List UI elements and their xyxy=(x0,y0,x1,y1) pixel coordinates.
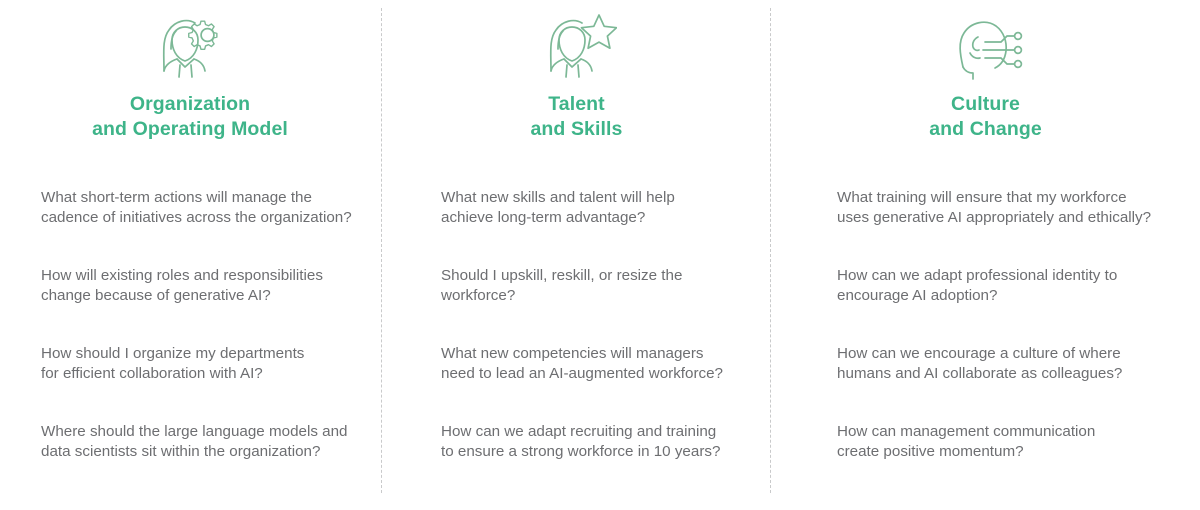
question-line: to ensure a strong workforce in 10 years… xyxy=(441,442,750,462)
column-heading-culture: Culture and Change xyxy=(837,92,1180,142)
question-line: need to lead an AI-augmented workforce? xyxy=(441,364,750,384)
heading-line: Culture xyxy=(837,92,1134,117)
question-item: What training will ensure that my workfo… xyxy=(837,188,1180,228)
question-line: workforce? xyxy=(441,286,750,306)
question-line: uses generative AI appropriately and eth… xyxy=(837,208,1180,228)
question-item: What new competencies will managers need… xyxy=(441,344,750,384)
heading-line: and Operating Model xyxy=(41,117,339,142)
heading-line: Talent xyxy=(441,92,712,117)
question-list-organization: What short-term actions will manage the … xyxy=(41,188,361,462)
question-line: What short-term actions will manage the xyxy=(41,188,361,208)
icon-container-culture xyxy=(837,0,1180,92)
question-line: How will existing roles and responsibili… xyxy=(41,266,361,286)
question-list-talent: What new skills and talent will help ach… xyxy=(441,188,750,462)
question-line: Should I upskill, reskill, or resize the xyxy=(441,266,750,286)
question-line: How should I organize my departments xyxy=(41,344,361,364)
question-line: create positive momentum? xyxy=(837,442,1180,462)
question-item: Where should the large language models a… xyxy=(41,422,361,462)
icon-container-talent xyxy=(441,0,750,92)
question-line: change because of generative AI? xyxy=(41,286,361,306)
column-organization: Organization and Operating Model What sh… xyxy=(0,0,381,510)
question-item: How can we encourage a culture of where … xyxy=(837,344,1180,384)
question-item: How will existing roles and responsibili… xyxy=(41,266,361,306)
heading-line: Organization xyxy=(41,92,339,117)
column-heading-talent: Talent and Skills xyxy=(441,92,750,142)
question-line: for efficient collaboration with AI? xyxy=(41,364,361,384)
question-line: humans and AI collaborate as colleagues? xyxy=(837,364,1180,384)
person-with-gear-icon xyxy=(150,9,230,83)
question-line: What training will ensure that my workfo… xyxy=(837,188,1180,208)
person-with-star-icon xyxy=(537,9,617,83)
heading-line: and Skills xyxy=(441,117,712,142)
question-item: What short-term actions will manage the … xyxy=(41,188,361,228)
question-item: How can we adapt professional identity t… xyxy=(837,266,1180,306)
question-line: How can we adapt professional identity t… xyxy=(837,266,1180,286)
column-culture: Culture and Change What training will en… xyxy=(770,0,1200,510)
question-line: cadence of initiatives across the organi… xyxy=(41,208,361,228)
column-talent: Talent and Skills What new skills and ta… xyxy=(381,0,770,510)
heading-line: and Change xyxy=(837,117,1134,142)
question-line: How can we encourage a culture of where xyxy=(837,344,1180,364)
question-item: What new skills and talent will help ach… xyxy=(441,188,750,228)
question-item: How can we adapt recruiting and training… xyxy=(441,422,750,462)
question-list-culture: What training will ensure that my workfo… xyxy=(837,188,1180,462)
question-line: Where should the large language models a… xyxy=(41,422,361,442)
question-item: Should I upskill, reskill, or resize the… xyxy=(441,266,750,306)
question-line: What new competencies will managers xyxy=(441,344,750,364)
three-column-question-board: Organization and Operating Model What sh… xyxy=(0,0,1200,510)
question-line: How can we adapt recruiting and training xyxy=(441,422,750,442)
question-item: How should I organize my departments for… xyxy=(41,344,361,384)
head-with-circuit-nodes-icon xyxy=(945,9,1027,83)
question-line: achieve long-term advantage? xyxy=(441,208,750,228)
question-line: encourage AI adoption? xyxy=(837,286,1180,306)
column-heading-organization: Organization and Operating Model xyxy=(41,92,361,142)
question-line: data scientists sit within the organizat… xyxy=(41,442,361,462)
question-item: How can management communication create … xyxy=(837,422,1180,462)
question-line: What new skills and talent will help xyxy=(441,188,750,208)
question-line: How can management communication xyxy=(837,422,1180,442)
icon-container-organization xyxy=(41,0,361,92)
